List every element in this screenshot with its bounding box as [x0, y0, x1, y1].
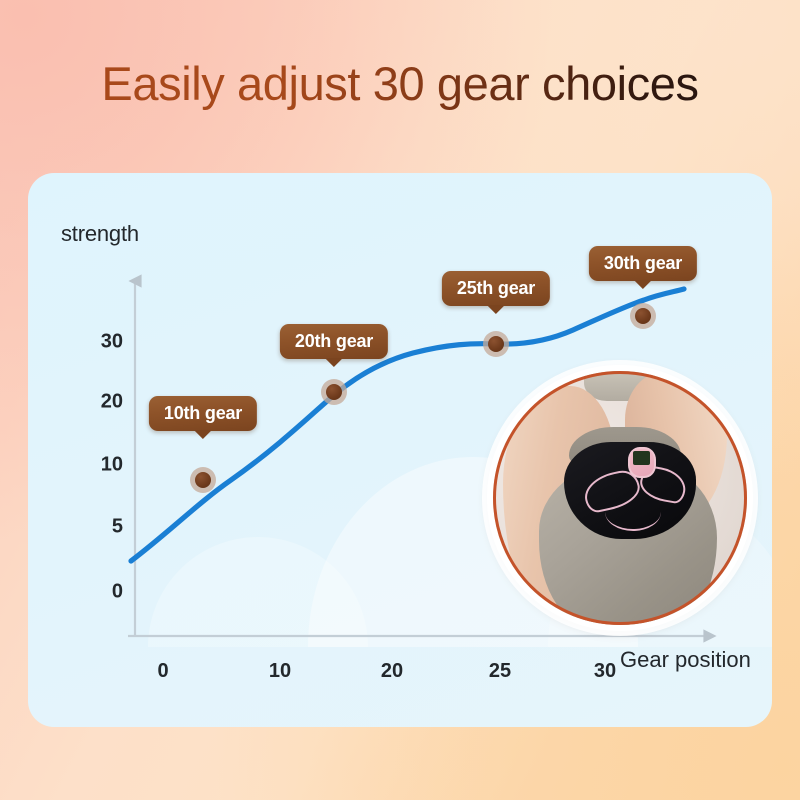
y-tick-0: 0	[83, 581, 123, 604]
y-tick-20: 20	[83, 391, 123, 414]
x-tick-25: 25	[489, 660, 511, 683]
chart-card: strength 30 20 10 5 0 0 10 20 25 30 Gear…	[28, 173, 772, 727]
y-axis-title: strength	[61, 221, 139, 247]
title-container: Easily adjust 30 gear choices	[0, 58, 800, 110]
data-point-25th-gear[interactable]	[483, 331, 509, 357]
tooltip-20th-gear[interactable]: 20th gear	[280, 324, 388, 359]
x-tick-0: 0	[157, 660, 168, 683]
y-tick-30: 30	[83, 331, 123, 354]
photo-device-screen	[633, 451, 650, 465]
x-tick-30: 30	[594, 660, 616, 683]
y-tick-5: 5	[83, 516, 123, 539]
x-tick-10: 10	[269, 660, 291, 683]
x-axis-title: Gear position	[620, 647, 751, 673]
data-point-30th-gear[interactable]	[630, 303, 656, 329]
page-title: Easily adjust 30 gear choices	[101, 58, 698, 110]
product-photo-image	[493, 371, 747, 625]
product-photo-inset	[487, 365, 753, 631]
x-tick-20: 20	[381, 660, 403, 683]
tooltip-10th-gear[interactable]: 10th gear	[149, 396, 257, 431]
y-tick-10: 10	[83, 454, 123, 477]
tooltip-30th-gear[interactable]: 30th gear	[589, 246, 697, 281]
tooltip-25th-gear[interactable]: 25th gear	[442, 271, 550, 306]
data-point-20th-gear[interactable]	[321, 379, 347, 405]
data-point-10th-gear[interactable]	[190, 467, 216, 493]
